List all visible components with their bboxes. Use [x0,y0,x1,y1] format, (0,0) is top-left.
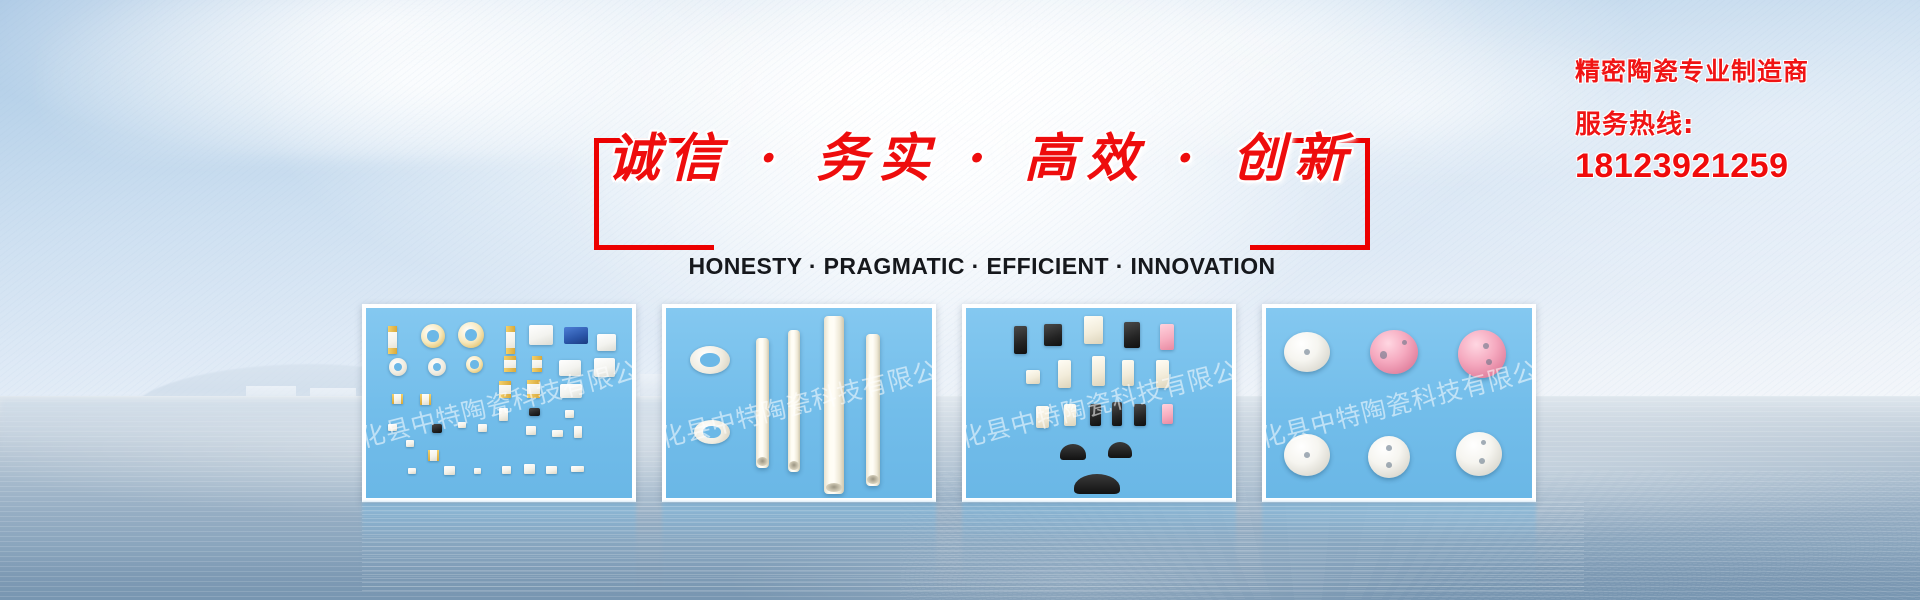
ceramic-part [756,338,769,468]
ceramic-part [458,422,466,428]
ceramic-part [428,450,439,461]
ceramic-part [1084,316,1103,344]
product-panel-tubes-and-rings[interactable]: 新化县中特陶瓷科技有限公司 [662,304,936,502]
panel-image: 新化县中特陶瓷科技有限公司 [1266,308,1532,498]
ceramic-part [408,468,416,474]
ceramic-part [1134,404,1146,426]
ceramic-part [529,325,553,345]
ceramic-part [1160,324,1174,350]
ceramic-part [388,424,397,431]
ceramic-part [788,330,800,472]
ceramic-part [597,334,616,351]
ceramic-part [529,408,540,416]
ceramic-part [1014,326,1027,354]
hotline-label: 服务热线: [1575,104,1905,141]
ceramic-part [1458,330,1506,378]
ceramic-part [559,360,581,376]
product-gallery: 新化县中特陶瓷科技有限公司 新化县中特陶瓷科技有限公司 [362,304,1584,502]
ceramic-part [1058,360,1071,388]
ceramic-part [1162,404,1173,424]
ceramic-part [1026,370,1040,384]
ceramic-part [466,356,483,373]
panel-image: 新化县中特陶瓷科技有限公司 [666,308,932,498]
ceramic-part [1122,360,1134,386]
ceramic-part [444,466,455,475]
ceramic-part [526,426,536,435]
contact-block: 精密陶瓷专业制造商 服务热线: 18123921259 [1575,52,1905,186]
ceramic-part [428,358,446,376]
ceramic-part [1036,406,1049,428]
company-tagline: 精密陶瓷专业制造商 [1575,52,1905,88]
ceramic-part [1124,322,1140,348]
ceramic-part [524,464,535,474]
ceramic-part [560,384,582,398]
ceramic-part [1112,402,1122,426]
ceramic-part [432,424,442,433]
hero-banner: 诚信 · 务实 · 高效 · 创新 HONESTY · PRAGMATIC · … [0,0,1920,600]
product-panel-smd-components[interactable]: 新化县中特陶瓷科技有限公司 [362,304,636,502]
ceramic-part [1156,360,1169,388]
product-panel-ceramic-blocks[interactable]: 新化县中特陶瓷科技有限公司 [962,304,1236,502]
product-panel-ceramic-discs[interactable]: 新化县中特陶瓷科技有限公司 [1262,304,1536,502]
ceramic-part [574,426,582,438]
ceramic-part [1284,434,1330,476]
panel-image: 新化县中特陶瓷科技有限公司 [966,308,1232,498]
ceramic-part [504,356,516,372]
ceramic-part [564,327,588,344]
ceramic-part [478,424,487,432]
ceramic-part [1108,442,1132,458]
ceramic-part [1060,444,1086,460]
ceramic-part [421,324,445,348]
ceramic-part [474,468,481,474]
slogan-block: 诚信 · 务实 · 高效 · 创新 HONESTY · PRAGMATIC · … [594,138,1370,250]
ceramic-part [499,408,508,421]
ceramic-part [1456,432,1502,476]
ceramic-part [406,440,414,447]
ceramic-part [1090,404,1101,426]
ceramic-part [1370,330,1418,374]
ceramic-part [506,326,515,354]
ceramic-part [527,380,540,398]
slogan-english: HONESTY · PRAGMATIC · EFFICIENT · INNOVA… [594,253,1370,280]
ceramic-part [571,466,584,472]
ceramic-part [546,466,557,474]
ceramic-part [594,358,615,377]
ceramic-part [1368,436,1410,478]
ceramic-part [866,334,880,486]
panel-image: 新化县中特陶瓷科技有限公司 [366,308,632,498]
ceramic-part [388,326,397,354]
ceramic-part [499,381,511,398]
slogan-chinese: 诚信 · 务实 · 高效 · 创新 [594,116,1370,191]
ceramic-part [532,356,542,372]
hotline-phone-number[interactable]: 18123921259 [1575,147,1905,186]
ceramic-part [392,394,403,404]
ceramic-part [1074,474,1120,494]
ceramic-part [565,410,574,418]
ceramic-part [552,430,563,437]
ceramic-part [694,420,730,444]
ceramic-part [420,394,431,405]
ceramic-part [690,346,730,374]
ceramic-part [1284,332,1330,372]
ceramic-part [389,358,407,376]
ceramic-part [458,322,484,348]
ceramic-part [1044,324,1062,346]
ceramic-part [502,466,511,474]
ceramic-part [1064,404,1076,426]
ceramic-part [824,316,844,494]
ceramic-part [1092,356,1105,386]
